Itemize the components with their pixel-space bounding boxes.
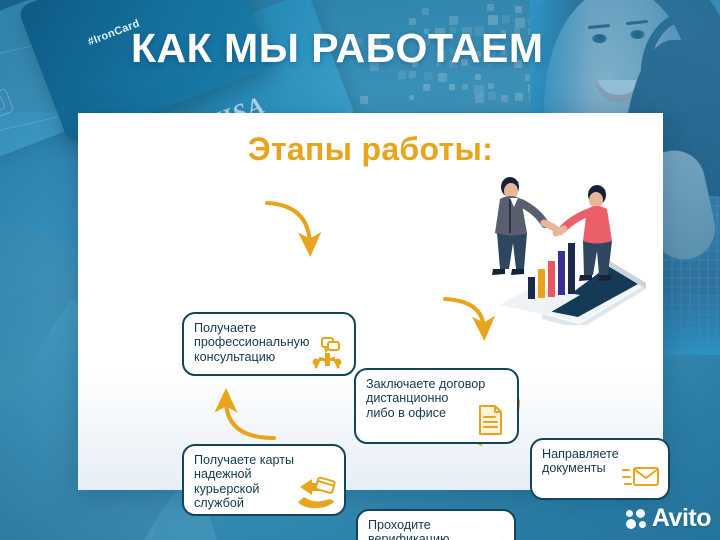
step-box-card-delivery[interactable]: Получаете карты надежной курьерской служ… xyxy=(182,444,346,516)
step-box-verification-label: Проходите верификацию дистанционно xyxy=(368,518,450,540)
arrow-step1-step2 xyxy=(267,203,310,245)
document-icon xyxy=(471,403,509,437)
consultation-icon xyxy=(308,335,346,369)
envelope-icon xyxy=(622,459,660,493)
avito-watermark: Avito xyxy=(626,506,711,531)
hand-card-icon xyxy=(298,475,336,509)
step-box-consultation[interactable]: Получаете профессиональную консультацию xyxy=(182,312,356,376)
arrow-step2-step3 xyxy=(445,299,484,329)
banner-stage: VISA #IronCard КАК МЫ РАБОТАЕМ Этапы раб… xyxy=(0,0,720,540)
step-box-consultation-label: Получаете профессиональную консультацию xyxy=(194,321,309,364)
step-box-verification[interactable]: Проходите верификацию дистанционно xyxy=(356,509,516,540)
page-title: КАК МЫ РАБОТАЕМ xyxy=(131,28,544,69)
step-box-contract-label: Заключаете договор дистанционно либо в о… xyxy=(366,377,485,420)
step-box-send-documents[interactable]: Направляете документы xyxy=(530,438,670,500)
content-panel: Этапы работы: xyxy=(78,113,663,490)
checkbox-icon xyxy=(468,534,506,540)
step-box-card-delivery-label: Получаете карты надежной курьерской служ… xyxy=(194,453,294,510)
arrow-step4-step5 xyxy=(226,400,274,438)
step-box-contract[interactable]: Заключаете договор дистанционно либо в о… xyxy=(354,368,519,444)
avito-dots-icon xyxy=(626,509,648,529)
step-box-send-documents-label: Направляете документы xyxy=(542,447,619,476)
avito-wordmark: Avito xyxy=(652,506,711,531)
